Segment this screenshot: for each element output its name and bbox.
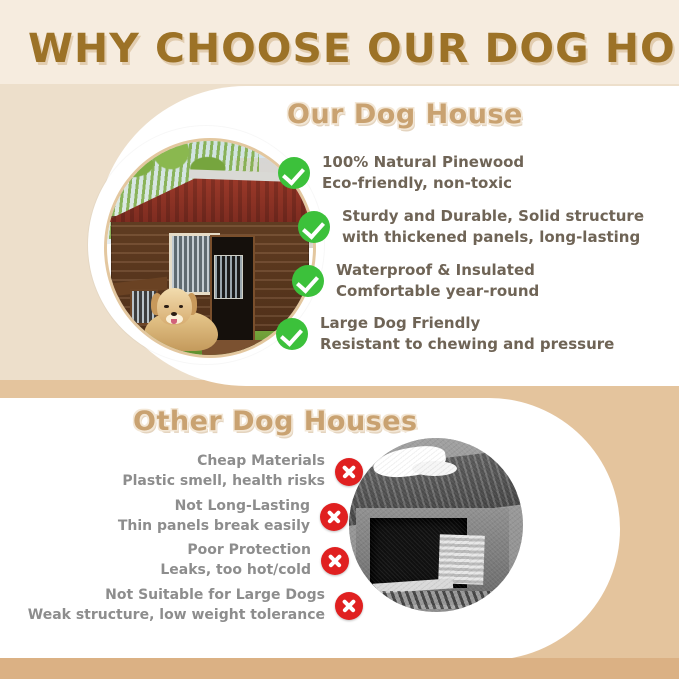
x-circle-icon — [335, 458, 363, 486]
golden-retriever — [144, 287, 218, 351]
benefit-line1: 100% Natural Pinewood — [322, 152, 524, 173]
benefit-line2: Comfortable year-round — [336, 281, 539, 302]
drawback-line2: Thin panels break easily — [118, 517, 310, 537]
door-grill — [214, 255, 243, 300]
benefit-item: Large Dog Friendly Resistant to chewing … — [276, 313, 614, 354]
x-circle-icon — [321, 547, 349, 575]
drawback-text: Cheap Materials Plastic smell, health ri… — [122, 452, 325, 491]
drawback-line2: Plastic smell, health risks — [122, 472, 325, 492]
drawback-line2: Weak structure, low weight tolerance — [28, 606, 325, 626]
benefit-line2: Resistant to chewing and pressure — [320, 334, 614, 355]
photo-other-dog-house — [349, 438, 523, 612]
drawback-text: Not Long-Lasting Thin panels break easil… — [118, 497, 310, 536]
benefit-text: Sturdy and Durable, Solid structure with… — [342, 206, 644, 247]
drawback-line2: Leaks, too hot/cold — [160, 561, 311, 581]
benefit-line2: Eco-friendly, non-toxic — [322, 173, 524, 194]
section-title-ours: Our Dog House — [287, 99, 523, 131]
benefit-item: Waterproof & Insulated Comfortable year-… — [292, 260, 539, 301]
drawback-text: Not Suitable for Large Dogs Weak structu… — [28, 586, 325, 625]
section-title-others: Other Dog Houses — [133, 406, 418, 438]
drawback-item: Not Long-Lasting Thin panels break easil… — [118, 497, 348, 536]
check-circle-icon — [276, 318, 308, 350]
check-circle-icon — [278, 157, 310, 189]
photo-grain — [349, 438, 523, 612]
benefit-text: 100% Natural Pinewood Eco-friendly, non-… — [322, 152, 524, 193]
drawback-line1: Not Suitable for Large Dogs — [28, 586, 325, 606]
benefit-line1: Sturdy and Durable, Solid structure — [342, 206, 644, 227]
benefit-line2: with thickened panels, long-lasting — [342, 227, 644, 248]
benefit-item: Sturdy and Durable, Solid structure with… — [298, 206, 644, 247]
background-bottom-band — [0, 658, 679, 679]
benefit-text: Large Dog Friendly Resistant to chewing … — [320, 313, 614, 354]
drawback-line1: Not Long-Lasting — [118, 497, 310, 517]
drawback-item: Not Suitable for Large Dogs Weak structu… — [28, 586, 363, 625]
page-title: WHY CHOOSE OUR DOG HOUSE?" — [28, 26, 679, 72]
benefit-text: Waterproof & Insulated Comfortable year-… — [336, 260, 539, 301]
check-circle-icon — [298, 211, 330, 243]
benefit-line1: Waterproof & Insulated — [336, 260, 539, 281]
x-circle-icon — [335, 592, 363, 620]
drawback-item: Poor Protection Leaks, too hot/cold — [160, 541, 349, 580]
x-circle-icon — [320, 503, 348, 531]
benefit-item: 100% Natural Pinewood Eco-friendly, non-… — [278, 152, 524, 193]
infographic-canvas: WHY CHOOSE OUR DOG HOUSE?" Our Dog House — [0, 0, 679, 679]
drawback-line1: Cheap Materials — [122, 452, 325, 472]
benefit-line1: Large Dog Friendly — [320, 313, 614, 334]
drawback-item: Cheap Materials Plastic smell, health ri… — [122, 452, 363, 491]
drawback-text: Poor Protection Leaks, too hot/cold — [160, 541, 311, 580]
drawback-line1: Poor Protection — [160, 541, 311, 561]
check-circle-icon — [292, 265, 324, 297]
